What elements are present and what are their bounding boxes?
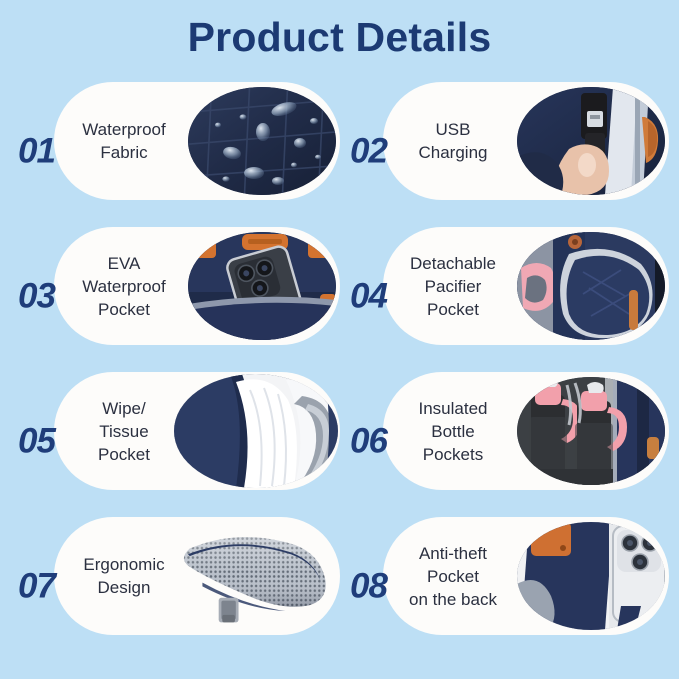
feature-number-04: 04 bbox=[350, 278, 387, 313]
feature-card-08[interactable]: Anti-theft Pocket on the back bbox=[383, 517, 669, 635]
feature-photo-usb-charging bbox=[517, 87, 665, 195]
feature-photo-insulated-bottle-pockets bbox=[517, 377, 665, 485]
feature-label-line: EVA bbox=[108, 252, 141, 275]
feature-card-03[interactable]: EVA Waterproof Pocket bbox=[54, 227, 340, 345]
feature-label-line: Insulated bbox=[419, 397, 488, 420]
feature-label-line: Tissue bbox=[99, 420, 148, 443]
feature-label-line: Pacifier bbox=[425, 275, 482, 298]
feature-photo-detachable-pacifier-pocket bbox=[517, 232, 665, 340]
feature-label-line: Wipe/ bbox=[102, 397, 145, 420]
feature-label-07: Ergonomic Design bbox=[54, 517, 194, 635]
feature-number-01: 01 bbox=[18, 133, 55, 168]
feature-label-line: Detachable bbox=[410, 252, 496, 275]
feature-label-line: Pocket bbox=[427, 565, 479, 588]
feature-number-05: 05 bbox=[18, 423, 55, 458]
feature-label-03: EVA Waterproof Pocket bbox=[54, 227, 194, 345]
feature-number-02: 02 bbox=[350, 133, 387, 168]
feature-card-07[interactable]: Ergonomic Design bbox=[54, 517, 340, 635]
feature-card-06[interactable]: Insulated Bottle Pockets bbox=[383, 372, 669, 490]
feature-label-line: Anti-theft bbox=[419, 542, 487, 565]
feature-card-01[interactable]: Waterproof Fabric bbox=[54, 82, 340, 200]
feature-label-line: Ergonomic bbox=[83, 553, 164, 576]
feature-label-line: Pocket bbox=[98, 443, 150, 466]
feature-label-line: Fabric bbox=[100, 141, 147, 164]
product-details-infographic: Product Details Waterproof Fabric bbox=[0, 0, 679, 679]
feature-label-06: Insulated Bottle Pockets bbox=[383, 372, 523, 490]
page-title: Product Details bbox=[0, 12, 679, 62]
feature-label-line: Waterproof bbox=[82, 275, 165, 298]
feature-label-04: Detachable Pacifier Pocket bbox=[383, 227, 523, 345]
feature-card-02[interactable]: USB Charging bbox=[383, 82, 669, 200]
feature-row: Ergonomic Design bbox=[0, 513, 679, 658]
feature-row: Waterproof Fabric bbox=[0, 78, 679, 223]
feature-grid: Waterproof Fabric bbox=[0, 78, 679, 658]
feature-number-03: 03 bbox=[18, 278, 55, 313]
feature-card-04[interactable]: Detachable Pacifier Pocket bbox=[383, 227, 669, 345]
feature-label-line: Pocket bbox=[98, 298, 150, 321]
feature-card-05[interactable]: Wipe/ Tissue Pocket bbox=[54, 372, 340, 490]
feature-photo-waterproof-fabric bbox=[188, 87, 336, 195]
feature-photo-anti-theft-pocket bbox=[517, 522, 665, 630]
feature-label-line: Pocket bbox=[427, 298, 479, 321]
feature-label-01: Waterproof Fabric bbox=[54, 82, 194, 200]
feature-number-06: 06 bbox=[350, 423, 387, 458]
feature-photo-wipe-tissue-pocket bbox=[174, 374, 338, 488]
feature-row: EVA Waterproof Pocket bbox=[0, 223, 679, 368]
feature-label-line: Pockets bbox=[423, 443, 483, 466]
feature-photo-ergonomic-design bbox=[188, 522, 336, 630]
feature-photo-eva-waterproof-pocket bbox=[188, 232, 336, 340]
feature-label-line: Charging bbox=[419, 141, 488, 164]
feature-label-line: Bottle bbox=[431, 420, 474, 443]
feature-label-02: USB Charging bbox=[383, 82, 523, 200]
feature-label-05: Wipe/ Tissue Pocket bbox=[54, 372, 194, 490]
feature-label-line: Design bbox=[98, 576, 151, 599]
feature-label-line: Waterproof bbox=[82, 118, 165, 141]
feature-label-line: USB bbox=[436, 118, 471, 141]
feature-label-08: Anti-theft Pocket on the back bbox=[383, 517, 523, 635]
feature-number-08: 08 bbox=[350, 568, 387, 603]
feature-label-line: on the back bbox=[409, 588, 497, 611]
feature-row: Wipe/ Tissue Pocket bbox=[0, 368, 679, 513]
feature-number-07: 07 bbox=[18, 568, 55, 603]
